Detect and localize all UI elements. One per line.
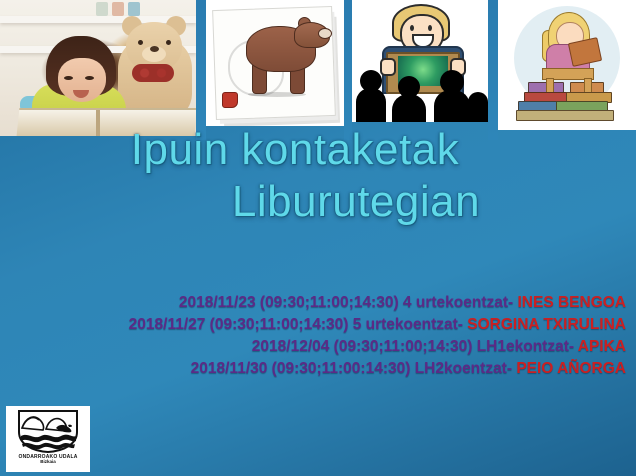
teddy-bear-bow bbox=[132, 64, 174, 82]
child-silhouette bbox=[392, 94, 426, 122]
storyteller-eye bbox=[428, 25, 432, 31]
photo-strip bbox=[0, 0, 636, 140]
title-line-2: Liburutegian bbox=[0, 178, 636, 226]
child-silhouette bbox=[468, 92, 488, 122]
child-eye bbox=[85, 76, 94, 80]
session-storyteller-name: INES BENGOA bbox=[517, 294, 626, 311]
book-spine bbox=[96, 110, 100, 136]
storyteller-hand bbox=[380, 58, 396, 76]
session-date-time-audience: 2018/11/27 (09:30;11:00;14:30) 5 urtekoe… bbox=[129, 316, 463, 333]
shelf-jar bbox=[128, 2, 140, 16]
book-in-pile bbox=[516, 110, 614, 121]
session-entry: 2018/11/23 (09:30;11:00;14:30) 4 urtekoe… bbox=[74, 292, 626, 314]
storyteller-eye bbox=[410, 25, 414, 31]
photo-storyteller-showing-picture-book bbox=[352, 0, 488, 122]
coat-of-arms-icon bbox=[16, 408, 80, 454]
session-entry: 2018/12/04 (09:30;11:00;14:30) LH1ekontz… bbox=[74, 336, 626, 358]
poster-title: Ipuin kontaketak Liburutegian bbox=[0, 126, 636, 225]
teddy-bear-nose bbox=[150, 46, 159, 52]
child-silhouette bbox=[356, 88, 386, 122]
session-list: 2018/11/23 (09:30;11:00;14:30) 4 urtekoe… bbox=[74, 292, 626, 380]
photo-gap bbox=[196, 0, 206, 140]
photo-bear-illustration-stepping-out-of-book bbox=[206, 0, 344, 126]
child-silhouette-head bbox=[398, 76, 420, 98]
coat-of-arms-svg bbox=[16, 408, 80, 454]
poster: Ipuin kontaketak Liburutegian 2018/11/23… bbox=[0, 0, 636, 476]
bear-muzzle bbox=[318, 28, 332, 39]
session-storyteller-name: APIKA bbox=[578, 338, 626, 355]
shelf-jar bbox=[96, 2, 108, 16]
photo-girl-reading-on-pile-of-books bbox=[498, 0, 636, 130]
session-date-time-audience: 2018/12/04 (09:30;11:00;14:30) LH1ekontz… bbox=[252, 338, 574, 355]
session-storyteller-name: PEIO AÑORGA bbox=[516, 360, 626, 377]
crest-province-name: Bizkaia bbox=[9, 460, 87, 465]
photo-child-reading-with-teddy-bear bbox=[0, 0, 196, 136]
teddy-bear-eye bbox=[166, 40, 171, 45]
photo-gap bbox=[488, 0, 498, 140]
child-silhouette-head bbox=[360, 70, 382, 92]
session-date-time-audience: 2018/11/23 (09:30;11:00;14:30) 4 urtekoe… bbox=[179, 294, 513, 311]
shelf-jar bbox=[112, 2, 124, 16]
red-boot bbox=[222, 92, 238, 108]
child-silhouette-head bbox=[440, 70, 464, 94]
child-silhouette bbox=[434, 90, 470, 122]
session-date-time-audience: 2018/11/30 (09:30;11:00:14:30) LH2koentz… bbox=[191, 360, 512, 377]
session-entry: 2018/11/27 (09:30;11:00;14:30) 5 urtekoe… bbox=[74, 314, 626, 336]
open-book bbox=[17, 108, 196, 136]
photo-gap bbox=[344, 0, 352, 140]
session-entry: 2018/11/30 (09:30;11:00:14:30) LH2koentz… bbox=[74, 358, 626, 380]
child-eye bbox=[64, 76, 73, 80]
session-storyteller-name: SORGINA TXIRULINA bbox=[467, 316, 626, 333]
municipal-crest-logo: ONDARROAKO UDALA Bizkaia bbox=[6, 406, 90, 472]
teddy-bear-eye bbox=[138, 40, 143, 45]
